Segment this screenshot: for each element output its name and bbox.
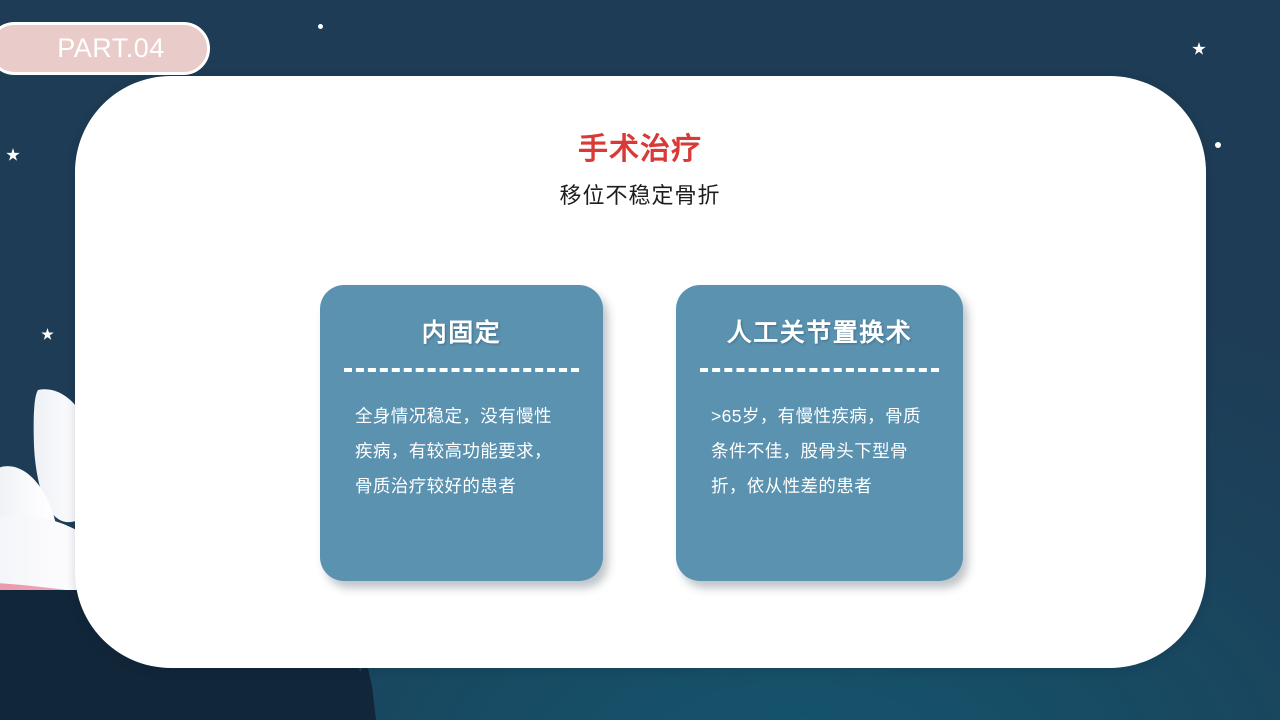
card-internal-fixation[interactable]: 内固定 全身情况稳定，没有慢性疾病，有较高功能要求，骨质治疗较好的患者 (320, 285, 603, 581)
page-subtitle: 移位不稳定骨折 (0, 178, 1280, 210)
part-badge[interactable]: PART.04 (0, 22, 210, 75)
star-icon (1192, 42, 1206, 56)
slide-canvas: PART.04 手术治疗 移位不稳定骨折 内固定 全身情况稳定，没有慢性疾病，有… (0, 0, 1280, 720)
card-arthroplasty[interactable]: 人工关节置换术 >65岁，有慢性疾病，骨质条件不佳，股骨头下型骨折，依从性差的患… (676, 285, 963, 581)
star-icon (41, 328, 54, 341)
dot-icon (318, 24, 323, 29)
page-title: 手术治疗 (0, 124, 1280, 168)
card-title: 内固定 (344, 313, 579, 349)
card-title: 人工关节置换术 (700, 313, 939, 349)
part-badge-label: PART.04 (33, 33, 165, 64)
card-divider (344, 368, 579, 372)
card-body: >65岁，有慢性疾病，骨质条件不佳，股骨头下型骨折，依从性差的患者 (700, 399, 939, 504)
card-divider (700, 368, 939, 372)
card-body: 全身情况稳定，没有慢性疾病，有较高功能要求，骨质治疗较好的患者 (344, 399, 579, 504)
